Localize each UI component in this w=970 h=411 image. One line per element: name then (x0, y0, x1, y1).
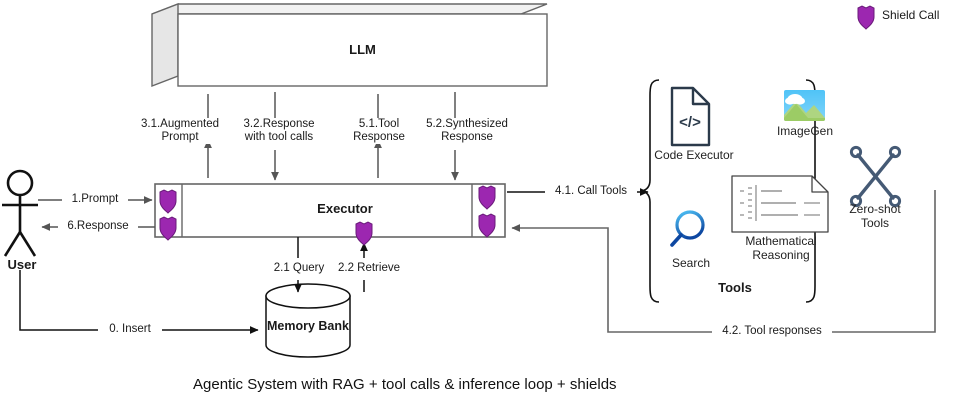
legend-shield-label: Shield Call (882, 9, 966, 22)
diagram-canvas: </> (0, 0, 970, 411)
edge-insert (20, 270, 258, 330)
tools-group-label: Tools (700, 281, 770, 294)
edge-label-retrieve: 2.2 Retrieve (332, 262, 406, 275)
tool-label-math-reasoning: Mathematical Reasoning (730, 234, 832, 262)
code-document-icon: </> (672, 88, 709, 145)
tool-label-imagegen: ImageGen (769, 124, 841, 138)
formula-document-icon (732, 176, 828, 232)
magnifier-icon (672, 212, 703, 245)
edge-label-response-tool-calls: 3.2.Response with tool calls (236, 118, 322, 144)
edge-label-augmented-prompt: 3.1.Augmented Prompt (140, 118, 220, 144)
diagram-caption: Agentic System with RAG + tool calls & i… (193, 376, 617, 393)
edge-label-tool-responses: 4.2. Tool responses (712, 325, 832, 338)
tool-label-search: Search (660, 256, 722, 270)
edge-label-synthesized-response: 5.2.Synthesized Response (421, 118, 513, 144)
memory-bank-label: Memory Bank (248, 320, 368, 333)
executor-label: Executor (245, 202, 445, 215)
llm-label: LLM (250, 43, 475, 56)
edge-label-tool-response: 5.1.Tool Response (344, 118, 414, 144)
crossed-wrenches-icon (851, 147, 899, 205)
edge-label-insert: 0. Insert (98, 323, 162, 336)
tool-label-zero-shot-tools: Zero-shot Tools (841, 202, 909, 230)
edge-label-prompt: 1.Prompt (62, 193, 128, 206)
edge-label-call-tools: 4.1. Call Tools (545, 185, 637, 198)
svg-text:</>: </> (679, 114, 701, 131)
user-stick-figure (2, 171, 38, 256)
shield-icon (356, 222, 372, 245)
tool-label-code-executor: Code Executor (648, 148, 740, 162)
diagram-svg: </> (0, 0, 970, 411)
image-icon (784, 90, 825, 121)
edge-label-response: 6.Response (58, 220, 138, 233)
edge-label-query: 2.1 Query (268, 262, 330, 275)
shield-icon (858, 6, 874, 29)
user-label: User (0, 258, 44, 271)
